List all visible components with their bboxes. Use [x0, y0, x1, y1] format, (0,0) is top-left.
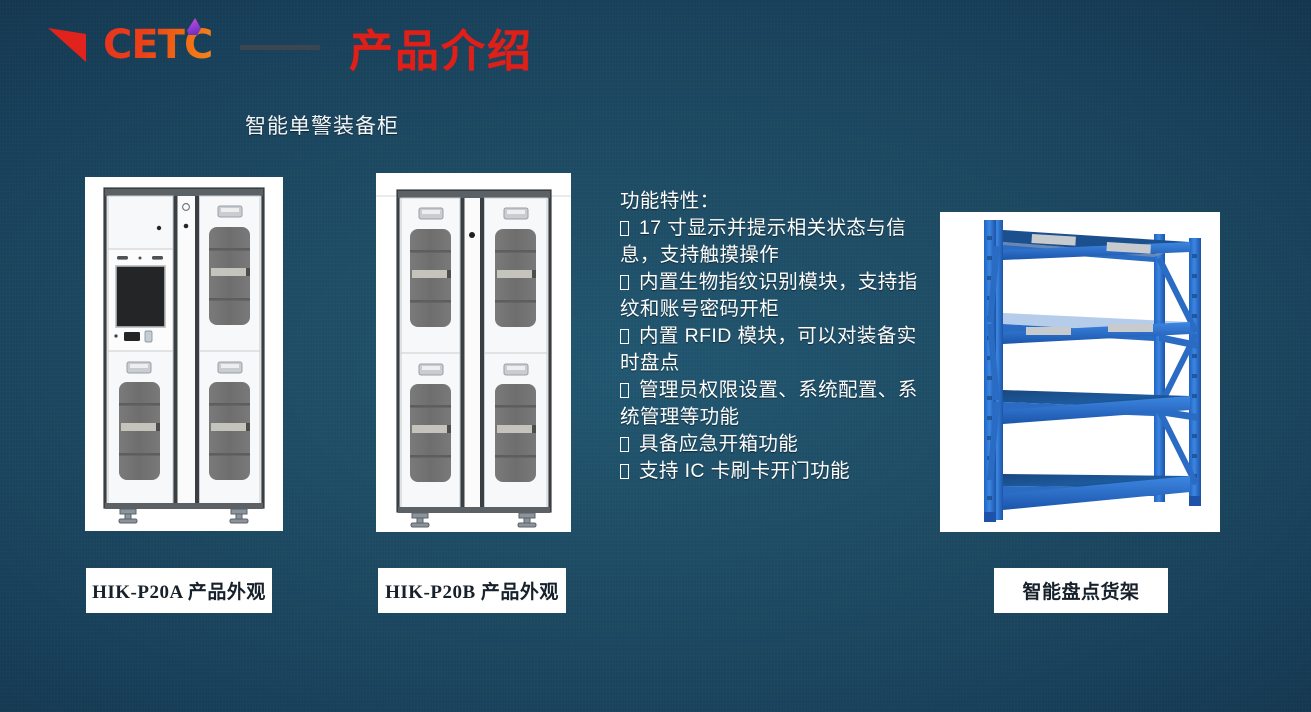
- slide-header: CETC 产品介绍: [0, 0, 1311, 96]
- product-image-hik-p20a: [85, 177, 283, 531]
- bullet-box-icon: [620, 464, 629, 479]
- feature-list: 功能特性： 17 寸显示并提示相关状态与信息，支持触摸操作 内置生物指纹识别模块…: [620, 188, 920, 485]
- feature-item: 具备应急开箱功能: [620, 431, 920, 458]
- product-image-smart-rack: [940, 212, 1220, 532]
- feature-item: 内置 RFID 模块，可以对装备实时盘点: [620, 323, 920, 377]
- feature-item-label: 具备应急开箱功能: [639, 433, 798, 455]
- bullet-box-icon: [620, 329, 629, 344]
- bullet-box-icon: [620, 221, 629, 236]
- feature-item-label: 管理员权限设置、系统配置、系统管理等功能: [620, 379, 918, 428]
- feature-item: 管理员权限设置、系统配置、系统管理等功能: [620, 377, 920, 431]
- feature-item: 17 寸显示并提示相关状态与信息，支持触摸操作: [620, 215, 920, 269]
- bullet-box-icon: [620, 275, 629, 290]
- product-caption-hik-p20a: HIK-P20A 产品外观: [86, 568, 272, 613]
- cetc-red-triangle-icon: [48, 28, 86, 62]
- feature-list-heading: 功能特性：: [620, 188, 920, 215]
- header-divider-rule: [240, 45, 320, 50]
- page-title: 产品介绍: [349, 24, 533, 80]
- feature-item-label: 支持 IC 卡刷卡开门功能: [639, 460, 850, 482]
- feature-item-label: 17 寸显示并提示相关状态与信息，支持触摸操作: [620, 217, 906, 266]
- product-caption-hik-p20b: HIK-P20B 产品外观: [378, 568, 566, 613]
- feature-item: 内置生物指纹识别模块，支持指纹和账号密码开柜: [620, 269, 920, 323]
- slide-canvas: CETC 产品介绍 智能单警装备柜: [0, 0, 1311, 712]
- bullet-box-icon: [620, 383, 629, 398]
- feature-item-label: 内置生物指纹识别模块，支持指纹和账号密码开柜: [620, 271, 918, 320]
- feature-item-label: 内置 RFID 模块，可以对装备实时盘点: [620, 325, 917, 374]
- bullet-box-icon: [620, 437, 629, 452]
- product-image-hik-p20b: [376, 173, 571, 532]
- product-caption-smart-rack: 智能盘点货架: [994, 568, 1168, 613]
- feature-item: 支持 IC 卡刷卡开门功能: [620, 458, 920, 485]
- section-subtitle: 智能单警装备柜: [245, 110, 399, 140]
